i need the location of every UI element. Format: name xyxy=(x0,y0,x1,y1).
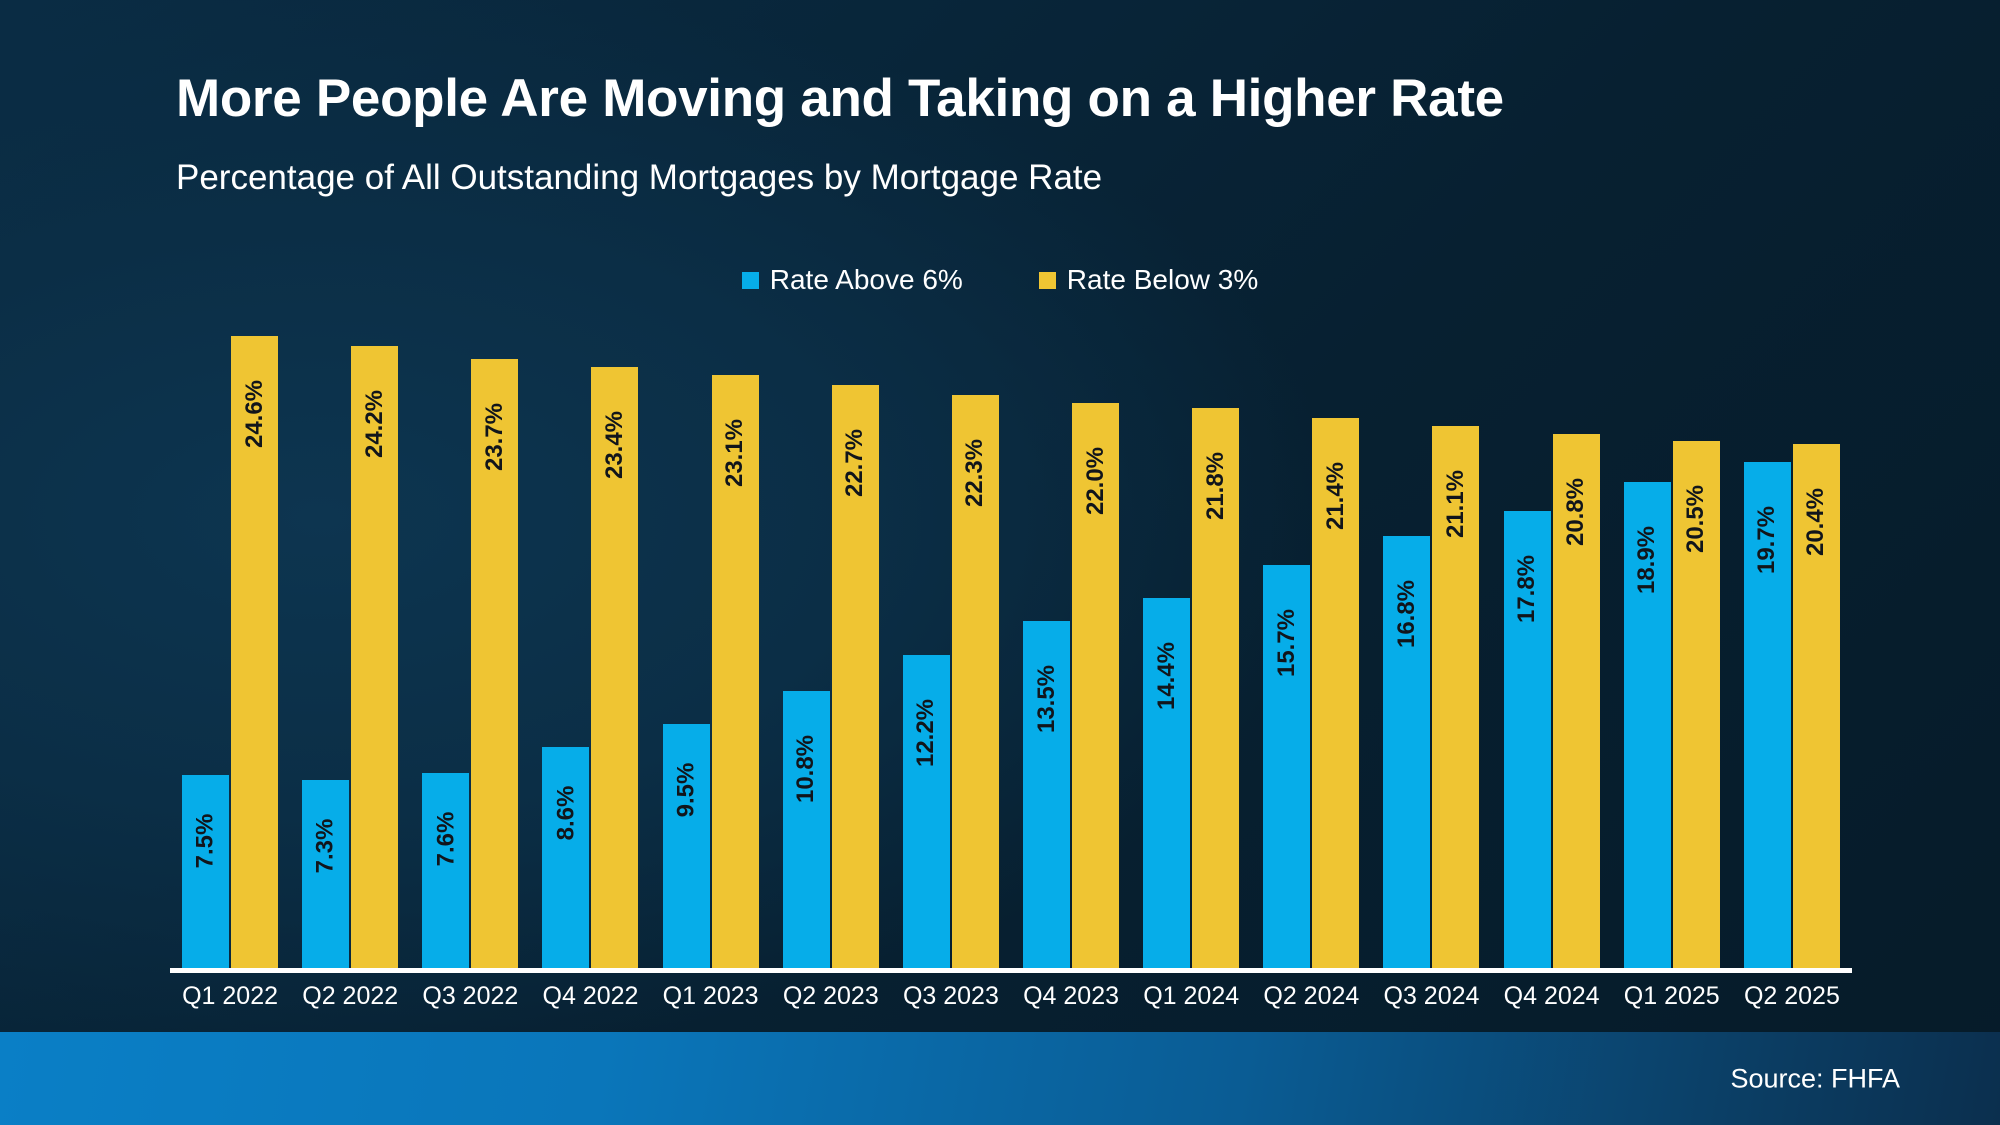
bar-value-label: 9.5% xyxy=(674,763,698,818)
legend-item-rate-below-3[interactable]: Rate Below 3% xyxy=(1039,264,1258,296)
x-axis-tick-label: Q3 2022 xyxy=(410,982,530,1011)
bar-group: 7.6%23.7% xyxy=(410,300,530,968)
bar[interactable]: 18.9% xyxy=(1624,482,1671,968)
x-axis-tick-label: Q3 2024 xyxy=(1371,982,1491,1011)
legend-swatch-icon xyxy=(742,272,759,289)
bar[interactable]: 14.4% xyxy=(1143,598,1190,968)
bar-value-label: 7.6% xyxy=(434,811,458,866)
bar[interactable]: 22.0% xyxy=(1072,403,1119,968)
bar-value-label: 15.7% xyxy=(1275,609,1299,677)
bar-group: 7.3%24.2% xyxy=(290,300,410,968)
bar-value-label: 22.0% xyxy=(1084,447,1108,515)
chart-slide: More People Are Moving and Taking on a H… xyxy=(0,0,2000,1125)
bar-group: 19.7%20.4% xyxy=(1732,300,1852,968)
bar[interactable]: 22.3% xyxy=(952,395,999,968)
bar[interactable]: 24.6% xyxy=(231,336,278,968)
bar[interactable]: 23.1% xyxy=(712,375,759,968)
page-subtitle: Percentage of All Outstanding Mortgages … xyxy=(176,158,1102,198)
bar-group: 17.8%20.8% xyxy=(1492,300,1612,968)
bar-value-label: 21.8% xyxy=(1204,452,1228,520)
bar[interactable]: 20.4% xyxy=(1793,444,1840,968)
bar[interactable]: 7.3% xyxy=(302,780,349,968)
bar-value-label: 24.6% xyxy=(243,380,267,448)
bar[interactable]: 17.8% xyxy=(1504,511,1551,968)
x-axis-tick-label: Q1 2025 xyxy=(1612,982,1732,1011)
bar-value-label: 12.2% xyxy=(914,699,938,767)
bar[interactable]: 20.5% xyxy=(1673,441,1720,968)
x-axis-tick-label: Q2 2022 xyxy=(290,982,410,1011)
bar[interactable]: 19.7% xyxy=(1744,462,1791,968)
bar[interactable]: 23.7% xyxy=(471,359,518,968)
bar[interactable]: 20.8% xyxy=(1553,434,1600,968)
bar-group: 15.7%21.4% xyxy=(1251,300,1371,968)
legend-label: Rate Below 3% xyxy=(1067,264,1258,296)
bar[interactable]: 22.7% xyxy=(832,385,879,968)
x-axis-tick-labels: Q1 2022Q2 2022Q3 2022Q4 2022Q1 2023Q2 20… xyxy=(170,982,1852,1011)
bar-value-label: 22.7% xyxy=(843,429,867,497)
bar-value-label: 10.8% xyxy=(794,735,818,803)
footer-bar: Source: FHFA xyxy=(0,1032,2000,1125)
bar-group: 14.4%21.8% xyxy=(1131,300,1251,968)
bar[interactable]: 13.5% xyxy=(1023,621,1070,968)
bar[interactable]: 9.5% xyxy=(663,724,710,968)
bar[interactable]: 21.1% xyxy=(1432,426,1479,968)
bar-value-label: 24.2% xyxy=(363,390,387,458)
bar[interactable]: 12.2% xyxy=(903,655,950,968)
legend-label: Rate Above 6% xyxy=(770,264,963,296)
bar-value-label: 13.5% xyxy=(1035,665,1059,733)
bar-value-label: 7.5% xyxy=(194,814,218,869)
bar-value-label: 21.4% xyxy=(1324,462,1348,530)
bar[interactable]: 21.8% xyxy=(1192,408,1239,968)
bar[interactable]: 7.6% xyxy=(422,773,469,968)
bar-value-label: 16.8% xyxy=(1395,580,1419,648)
bar-group: 9.5%23.1% xyxy=(651,300,771,968)
x-axis-tick-label: Q2 2023 xyxy=(771,982,891,1011)
bar[interactable]: 21.4% xyxy=(1312,418,1359,968)
x-axis-tick-label: Q2 2024 xyxy=(1251,982,1371,1011)
x-axis-tick-label: Q3 2023 xyxy=(891,982,1011,1011)
chart-plot-area: 7.5%24.6%7.3%24.2%7.6%23.7%8.6%23.4%9.5%… xyxy=(170,300,1852,968)
bar-value-label: 23.1% xyxy=(723,418,747,486)
bar-group: 7.5%24.6% xyxy=(170,300,290,968)
bar-group: 16.8%21.1% xyxy=(1371,300,1491,968)
bar-value-label: 17.8% xyxy=(1515,555,1539,623)
x-axis-line xyxy=(170,968,1852,973)
bar[interactable]: 15.7% xyxy=(1263,565,1310,968)
bar-value-label: 7.3% xyxy=(314,819,338,874)
source-attribution: Source: FHFA xyxy=(1730,1063,1900,1094)
bar-group: 13.5%22.0% xyxy=(1011,300,1131,968)
x-axis-tick-label: Q4 2022 xyxy=(530,982,650,1011)
bar-value-label: 23.7% xyxy=(483,403,507,471)
bar-value-label: 23.4% xyxy=(603,411,627,479)
bar-group: 18.9%20.5% xyxy=(1612,300,1732,968)
legend-swatch-icon xyxy=(1039,272,1056,289)
bar-group: 10.8%22.7% xyxy=(771,300,891,968)
bar[interactable]: 24.2% xyxy=(351,346,398,968)
x-axis-tick-label: Q1 2022 xyxy=(170,982,290,1011)
x-axis-tick-label: Q2 2025 xyxy=(1732,982,1852,1011)
bar-group: 12.2%22.3% xyxy=(891,300,1011,968)
bar[interactable]: 8.6% xyxy=(542,747,589,968)
bar-value-label: 8.6% xyxy=(554,786,578,841)
x-axis-tick-label: Q4 2024 xyxy=(1492,982,1612,1011)
bar-groups: 7.5%24.6%7.3%24.2%7.6%23.7%8.6%23.4%9.5%… xyxy=(170,300,1852,968)
bar-value-label: 14.4% xyxy=(1155,642,1179,710)
bar[interactable]: 16.8% xyxy=(1383,536,1430,968)
bar-value-label: 21.1% xyxy=(1444,470,1468,538)
bar[interactable]: 7.5% xyxy=(182,775,229,968)
bar-group: 8.6%23.4% xyxy=(530,300,650,968)
bar[interactable]: 23.4% xyxy=(591,367,638,968)
bar-value-label: 20.5% xyxy=(1684,485,1708,553)
legend-item-rate-above-6[interactable]: Rate Above 6% xyxy=(742,264,963,296)
bar-value-label: 18.9% xyxy=(1635,526,1659,594)
x-axis-tick-label: Q1 2024 xyxy=(1131,982,1251,1011)
bar[interactable]: 10.8% xyxy=(783,691,830,968)
x-axis-tick-label: Q1 2023 xyxy=(651,982,771,1011)
x-axis-tick-label: Q4 2023 xyxy=(1011,982,1131,1011)
chart-legend: Rate Above 6%Rate Below 3% xyxy=(0,264,2000,296)
bar-value-label: 22.3% xyxy=(963,439,987,507)
page-title: More People Are Moving and Taking on a H… xyxy=(176,68,1504,129)
bar-value-label: 20.8% xyxy=(1564,478,1588,546)
bar-value-label: 19.7% xyxy=(1755,506,1779,574)
bar-value-label: 20.4% xyxy=(1804,488,1828,556)
